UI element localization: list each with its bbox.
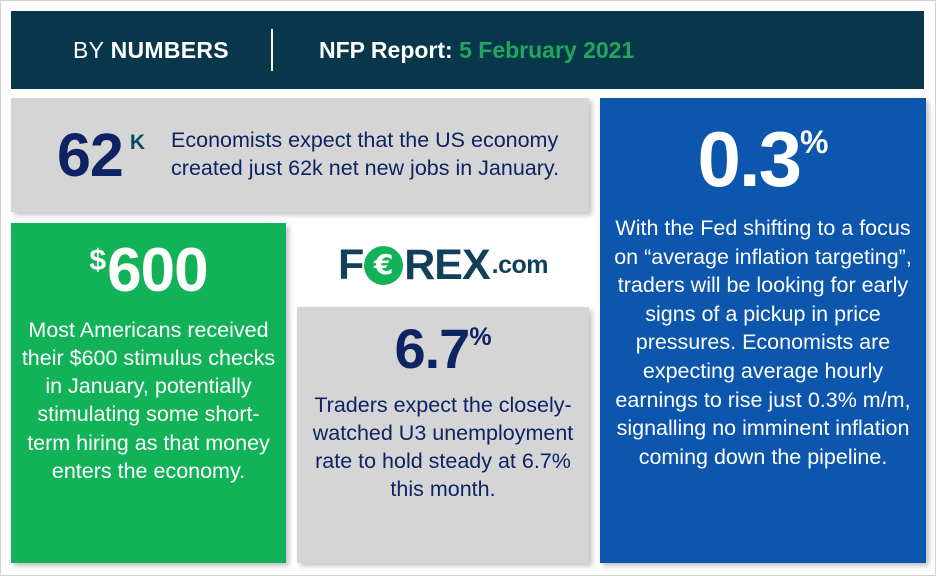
- stat-stimulus-currency: $: [89, 246, 106, 276]
- stat-jobs-unit: K: [130, 131, 145, 155]
- card-earnings: 0.3 % With the Fed shifting to a focus o…: [600, 98, 926, 563]
- card-jobs: 62 K Economists expect that the US econo…: [11, 98, 589, 212]
- left-bottom-row: $ 600 Most Americans received their $600…: [11, 223, 589, 563]
- card-unemployment-description: Traders expect the closely-watched U3 un…: [309, 391, 577, 504]
- stat-jobs: 62 K: [57, 125, 145, 186]
- left-column: 62 K Economists expect that the US econo…: [11, 98, 589, 563]
- stat-earnings: 0.3 %: [698, 120, 829, 198]
- card-stimulus: $ 600 Most Americans received their $600…: [11, 223, 286, 563]
- card-stimulus-description: Most Americans received their $600 stimu…: [21, 316, 276, 485]
- card-unemployment: 6.7 % Traders expect the closely-watched…: [297, 307, 589, 563]
- stat-unemployment-unit: %: [469, 325, 491, 350]
- header-divider: [271, 29, 273, 71]
- forex-com-logo[interactable]: F € REX .com: [338, 244, 548, 287]
- stat-earnings-unit: %: [800, 126, 828, 158]
- logo-text-dotcom: .com: [492, 253, 548, 278]
- header-title-by-numbers: BY NUMBERS: [73, 37, 229, 64]
- stat-stimulus-value: 600: [107, 240, 207, 302]
- card-earnings-description: With the Fed shifting to a focus on “ave…: [614, 214, 912, 471]
- euro-circle-icon: €: [364, 246, 403, 285]
- euro-symbol-icon: €: [364, 246, 403, 285]
- logo-text-rex: REX: [404, 244, 489, 287]
- header-title-lead: BY: [73, 37, 111, 63]
- brand-logo-wrap: F € REX .com: [297, 223, 589, 307]
- header-report-line: NFP Report: 5 February 2021: [319, 37, 634, 64]
- middle-column: F € REX .com 6.7 % Trade: [297, 223, 589, 563]
- body-area: 62 K Economists expect that the US econo…: [11, 98, 924, 563]
- logo-text-f: F: [338, 244, 363, 287]
- infographic-root: BY NUMBERS NFP Report: 5 February 2021 6…: [0, 0, 936, 576]
- stat-jobs-value: 62: [57, 125, 123, 186]
- header-title-strong: NUMBERS: [111, 37, 229, 63]
- stat-earnings-value: 0.3: [698, 120, 800, 198]
- header-report-date: 5 February 2021: [459, 37, 634, 63]
- stat-unemployment: 6.7 %: [394, 321, 491, 377]
- card-jobs-description: Economists expect that the US economy cr…: [171, 127, 571, 183]
- stat-unemployment-value: 6.7: [394, 321, 469, 377]
- header-report-label: NFP Report:: [319, 37, 459, 63]
- header-bar: BY NUMBERS NFP Report: 5 February 2021: [11, 11, 924, 89]
- stat-stimulus: $ 600: [89, 240, 207, 302]
- right-column: 0.3 % With the Fed shifting to a focus o…: [600, 98, 926, 563]
